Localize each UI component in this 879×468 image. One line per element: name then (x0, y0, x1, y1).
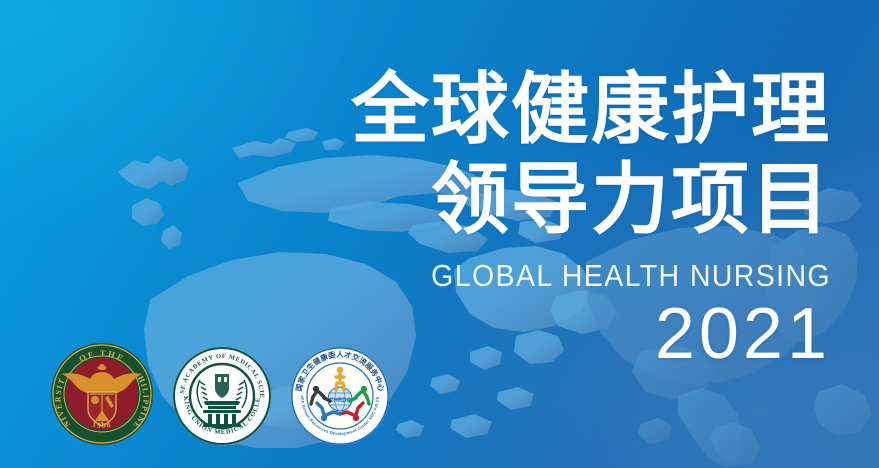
logo-health-human-resources-development-center: CHRDC (290, 346, 390, 446)
logo-chinese-academy-of-medical-sciences: CHINESE ACADEMY OF MEDICAL SCIENCES PEKI… (172, 346, 272, 446)
svg-text:1908: 1908 (91, 420, 112, 430)
headline-block: 全球健康护理 领导力项目 GLOBAL HEALTH NURSING 2021 (231, 62, 831, 372)
up-seal-year-text: 1908 (91, 420, 112, 430)
subtitle-english: GLOBAL HEALTH NURSING (279, 258, 831, 294)
title-chinese-line-2: 领导力项目 (231, 152, 831, 248)
hhrdc-center-acronym: CHRDC (329, 398, 351, 404)
title-chinese-line-1: 全球健康护理 (231, 62, 831, 158)
global-health-nursing-banner: 全球健康护理 领导力项目 GLOBAL HEALTH NURSING 2021 (0, 0, 879, 468)
partner-logo-row: OF THE 1908 UNIVERSITY PHILIPPINES (50, 342, 390, 446)
logo-university-of-the-philippines: OF THE 1908 UNIVERSITY PHILIPPINES (50, 342, 154, 446)
